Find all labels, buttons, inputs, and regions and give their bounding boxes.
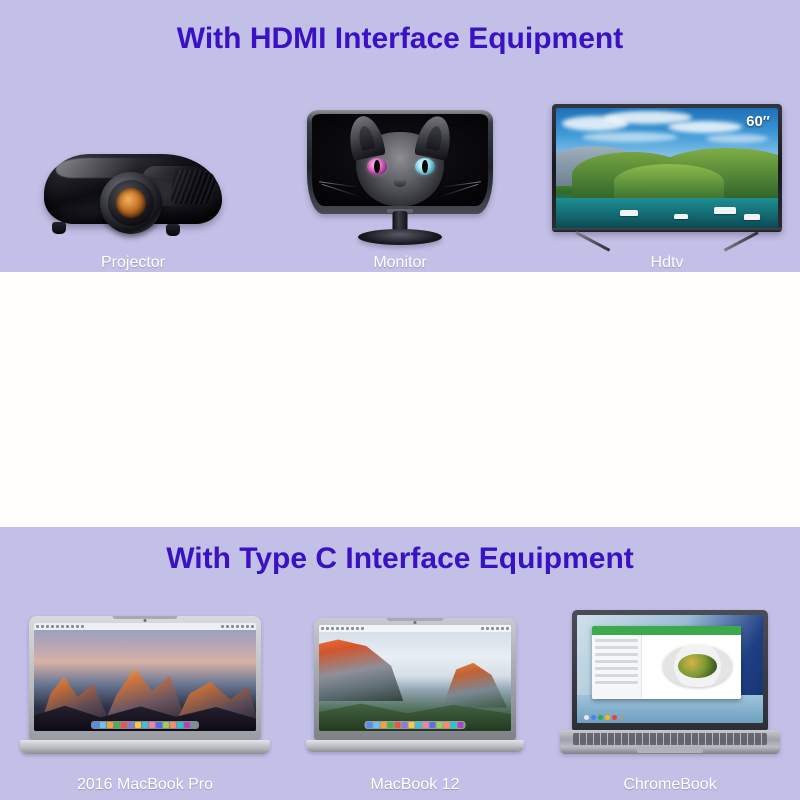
macos-dock bbox=[365, 721, 466, 729]
device-macbook-12: MacBook 12 bbox=[290, 589, 540, 794]
device-chromebook: ChromeBook bbox=[540, 589, 800, 794]
device-label-monitor: Monitor bbox=[373, 254, 426, 272]
cat-wallpaper bbox=[345, 118, 455, 206]
projector-icon bbox=[38, 136, 228, 236]
hdmi-device-row: Projector bbox=[0, 96, 800, 272]
cable-panel: HDMI bbox=[0, 272, 800, 527]
typec-section-title: With Type C Interface Equipment bbox=[0, 542, 800, 576]
hdmi-equipment-panel: With HDMI Interface Equipment Projector bbox=[0, 0, 800, 272]
device-label-projector: Projector bbox=[101, 254, 165, 272]
macos-dock bbox=[91, 721, 199, 729]
device-label-macbook-12: MacBook 12 bbox=[371, 776, 460, 794]
hdmi-section-title: With HDMI Interface Equipment bbox=[0, 22, 800, 56]
hdtv-size-badge: 60″ bbox=[746, 113, 770, 130]
typec-device-row: 2016 MacBook Pro bbox=[0, 589, 800, 794]
macbook-pro-icon bbox=[29, 616, 261, 754]
device-label-hdtv: Hdtv bbox=[651, 254, 684, 272]
chromebook-icon bbox=[572, 610, 768, 754]
infographic-page: With HDMI Interface Equipment Projector bbox=[0, 0, 800, 800]
typec-equipment-panel: With Type C Interface Equipment bbox=[0, 527, 800, 800]
hdtv-icon: 60″ bbox=[552, 104, 782, 249]
monitor-icon bbox=[307, 110, 493, 242]
device-projector: Projector bbox=[0, 96, 266, 272]
device-label-chromebook: ChromeBook bbox=[623, 776, 716, 794]
macbook-12-icon bbox=[314, 618, 516, 752]
device-monitor: Monitor bbox=[266, 96, 534, 272]
device-label-macbook-pro: 2016 MacBook Pro bbox=[77, 776, 213, 794]
device-macbook-pro: 2016 MacBook Pro bbox=[0, 589, 290, 794]
device-hdtv: 60″ Hdtv bbox=[534, 96, 800, 272]
